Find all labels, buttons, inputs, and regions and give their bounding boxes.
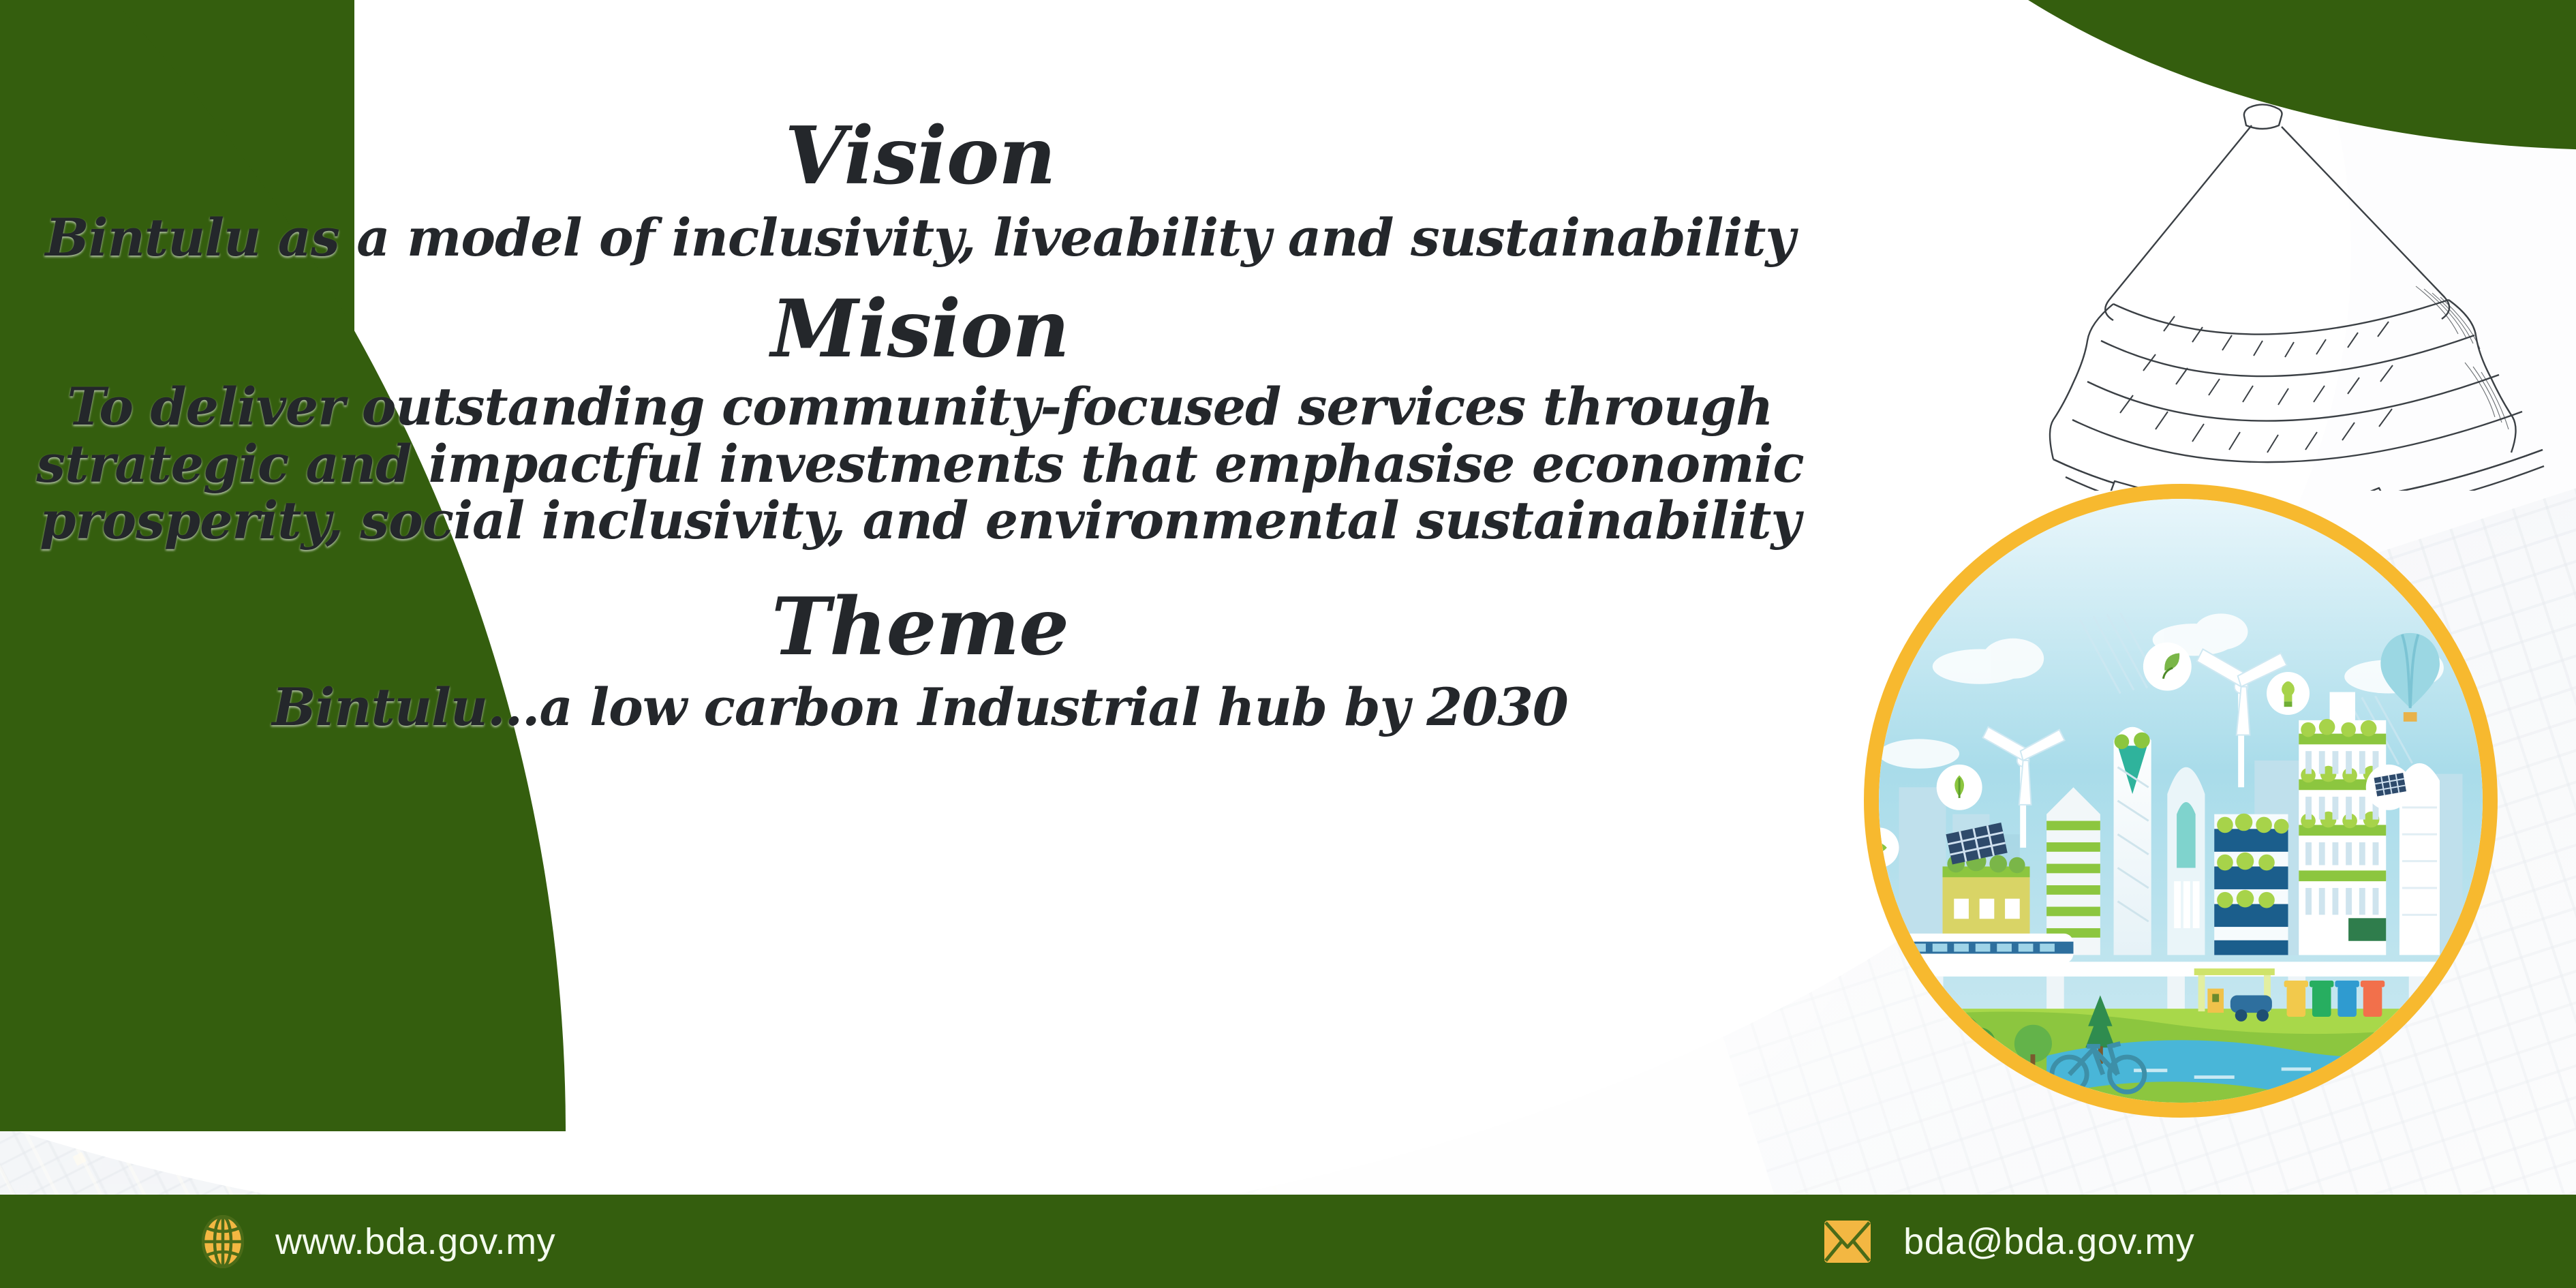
- mission-heading: Mision: [771, 289, 1069, 369]
- website-url-text: www.bda.gov.my: [275, 1221, 555, 1263]
- eco-city-illustration: [1879, 499, 2483, 1103]
- theme-line-1: Bintulu...a low carbon Industrial hub by…: [272, 681, 1567, 734]
- globe-icon: [202, 1215, 244, 1268]
- eco-city-circle-ring: [1864, 484, 2498, 1118]
- section-mission: Mision To deliver outstanding community-…: [36, 289, 1803, 551]
- footer-bar: www.bda.gov.my bda@bda.gov.my: [0, 1195, 2576, 1288]
- footer-email[interactable]: bda@bda.gov.my: [1823, 1219, 2194, 1264]
- vision-heading: Vision: [784, 116, 1055, 196]
- poster-canvas: Vision Bintulu as a model of inclusivity…: [0, 0, 2576, 1288]
- dome-building-illustration: [1939, 95, 2576, 491]
- mission-line-3: prosperity, social inclusivity, and envi…: [40, 494, 1800, 547]
- section-vision: Vision Bintulu as a model of inclusivity…: [45, 116, 1794, 264]
- footer-website[interactable]: www.bda.gov.my: [202, 1215, 555, 1268]
- section-theme: Theme Bintulu...a low carbon Industrial …: [272, 587, 1567, 734]
- envelope-icon: [1823, 1219, 1872, 1264]
- mission-line-2: strategic and impactful investments that…: [36, 438, 1803, 491]
- mission-line-1: To deliver outstanding community-focused…: [67, 380, 1773, 433]
- eco-city-circle: [1826, 470, 2576, 1152]
- poster-text-content: Vision Bintulu as a model of inclusivity…: [0, 0, 1840, 1186]
- vision-line-1: Bintulu as a model of inclusivity, livea…: [45, 211, 1794, 264]
- email-address-text: bda@bda.gov.my: [1903, 1221, 2194, 1263]
- theme-heading: Theme: [771, 587, 1069, 667]
